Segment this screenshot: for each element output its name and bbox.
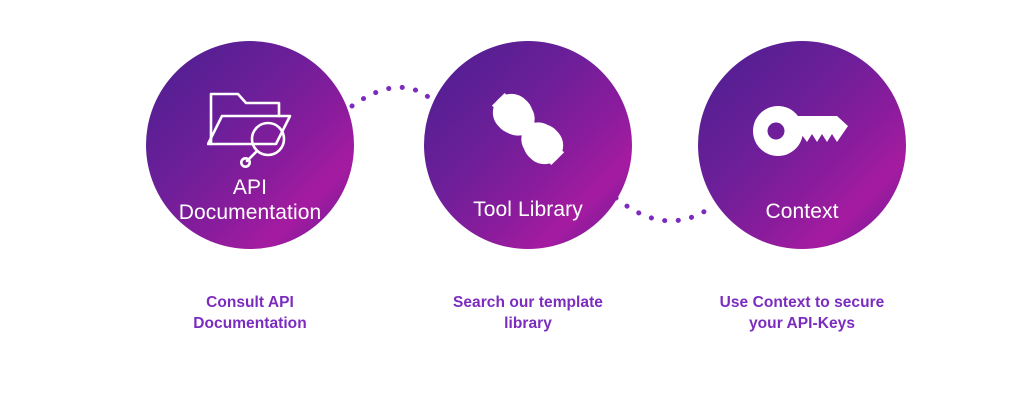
step-caption-tool-library: Search our template library: [383, 292, 673, 334]
step-caption-api-documentation: Consult API Documentation: [105, 292, 395, 334]
step-label-context: Context: [702, 199, 902, 224]
process-diagram: API Documentation Consult API Documentat…: [0, 0, 1036, 406]
wrench-icon: [483, 83, 573, 175]
folder-search-icon: [207, 86, 293, 168]
step-circle-api-documentation[interactable]: API Documentation: [146, 41, 354, 249]
step-label-api-documentation: API Documentation: [150, 175, 350, 225]
step-circle-tool-library[interactable]: Tool Library: [424, 41, 632, 249]
step-label-tool-library: Tool Library: [428, 197, 628, 222]
key-icon: [753, 101, 851, 161]
step-circle-context[interactable]: Context: [698, 41, 906, 249]
process-step-context[interactable]: Context Use Context to secure your API-K…: [637, 0, 967, 406]
step-caption-context: Use Context to secure your API-Keys: [657, 292, 947, 334]
